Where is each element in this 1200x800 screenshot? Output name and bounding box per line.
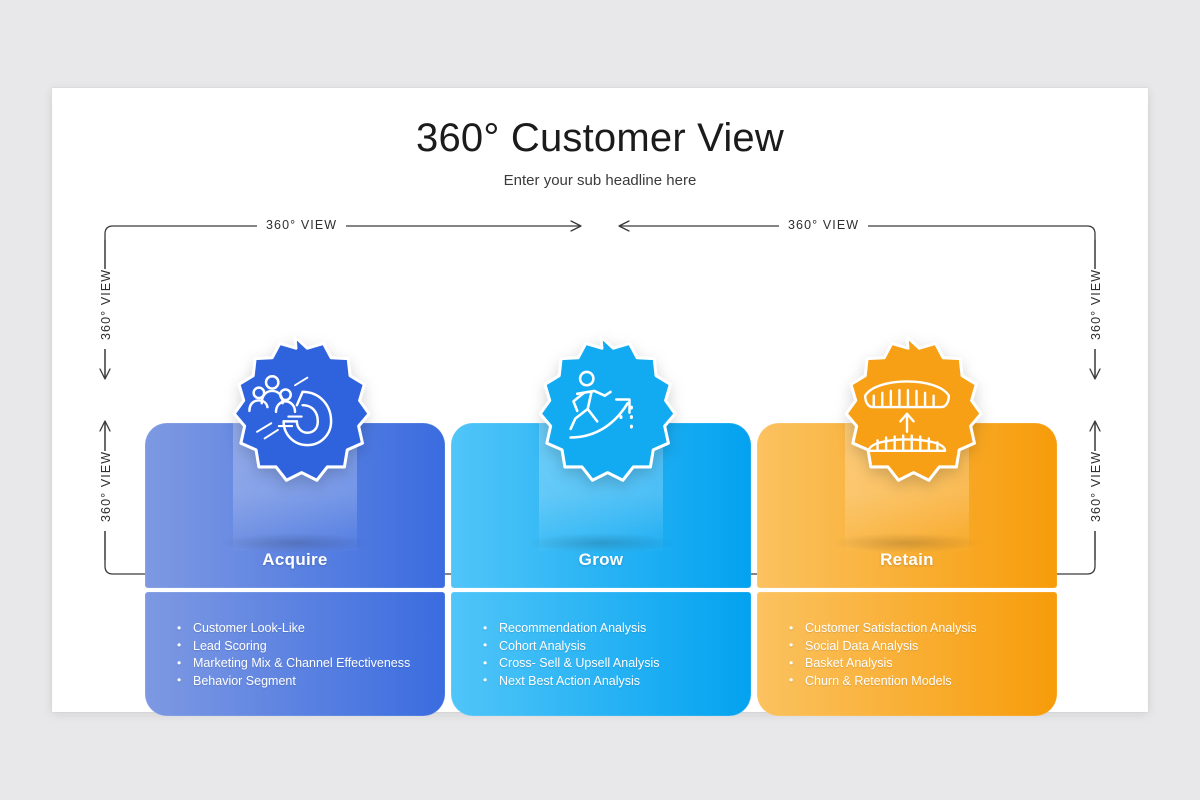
arrow-left-lower-head [100,421,110,431]
list-item: Marketing Mix & Channel Effectiveness [175,655,429,673]
arrow-top-left-head [571,221,581,231]
grow-badge[interactable] [525,333,677,485]
page-title: 360° Customer View [52,116,1148,161]
label-top-right: 360° VIEW [779,218,868,232]
acquire-bullet-list: Customer Look-Like Lead Scoring Marketin… [145,592,445,716]
arrow-top-right-head [619,221,629,231]
retain-bullets-panel: Customer Satisfaction Analysis Social Da… [757,592,1057,716]
label-right-upper: 360° VIEW [1089,269,1103,349]
arrow-right-upper-head [1090,369,1100,379]
arrow-right-lower-head [1090,421,1100,431]
label-left-lower: 360° VIEW [99,451,113,531]
list-item: Basket Analysis [787,655,1041,673]
grow-bullets-panel: Recommendation Analysis Cohort Analysis … [451,592,751,716]
slide: 360° Customer View Enter your sub headli… [52,88,1148,712]
slide-canvas: 360° Customer View Enter your sub headli… [0,0,1200,800]
acquire-pedestal-shadow [219,533,371,553]
list-item: Cohort Analysis [481,638,735,656]
list-item: Social Data Analysis [787,638,1041,656]
list-item: Customer Satisfaction Analysis [787,620,1041,638]
retain-badge[interactable] [831,333,983,485]
acquire-badge[interactable] [219,333,371,485]
list-item: Churn & Retention Models [787,673,1041,691]
retain-pedestal-shadow [831,533,983,553]
label-left-upper: 360° VIEW [99,269,113,349]
list-item: Lead Scoring [175,638,429,656]
acquire-title: Acquire [145,550,445,570]
list-item: Recommendation Analysis [481,620,735,638]
grow-title: Grow [451,550,751,570]
retain-bullet-list: Customer Satisfaction Analysis Social Da… [757,592,1057,716]
list-item: Behavior Segment [175,673,429,691]
list-item: Next Best Action Analysis [481,673,735,691]
list-item: Customer Look-Like [175,620,429,638]
list-item: Cross- Sell & Upsell Analysis [481,655,735,673]
grow-pedestal-shadow [525,533,677,553]
acquire-bullets-panel: Customer Look-Like Lead Scoring Marketin… [145,592,445,716]
grow-bullet-list: Recommendation Analysis Cohort Analysis … [451,592,751,716]
page-subtitle: Enter your sub headline here [52,172,1148,189]
arrow-left-upper-head [100,369,110,379]
label-top-left: 360° VIEW [257,218,346,232]
label-right-lower: 360° VIEW [1089,451,1103,531]
retain-title: Retain [757,550,1057,570]
